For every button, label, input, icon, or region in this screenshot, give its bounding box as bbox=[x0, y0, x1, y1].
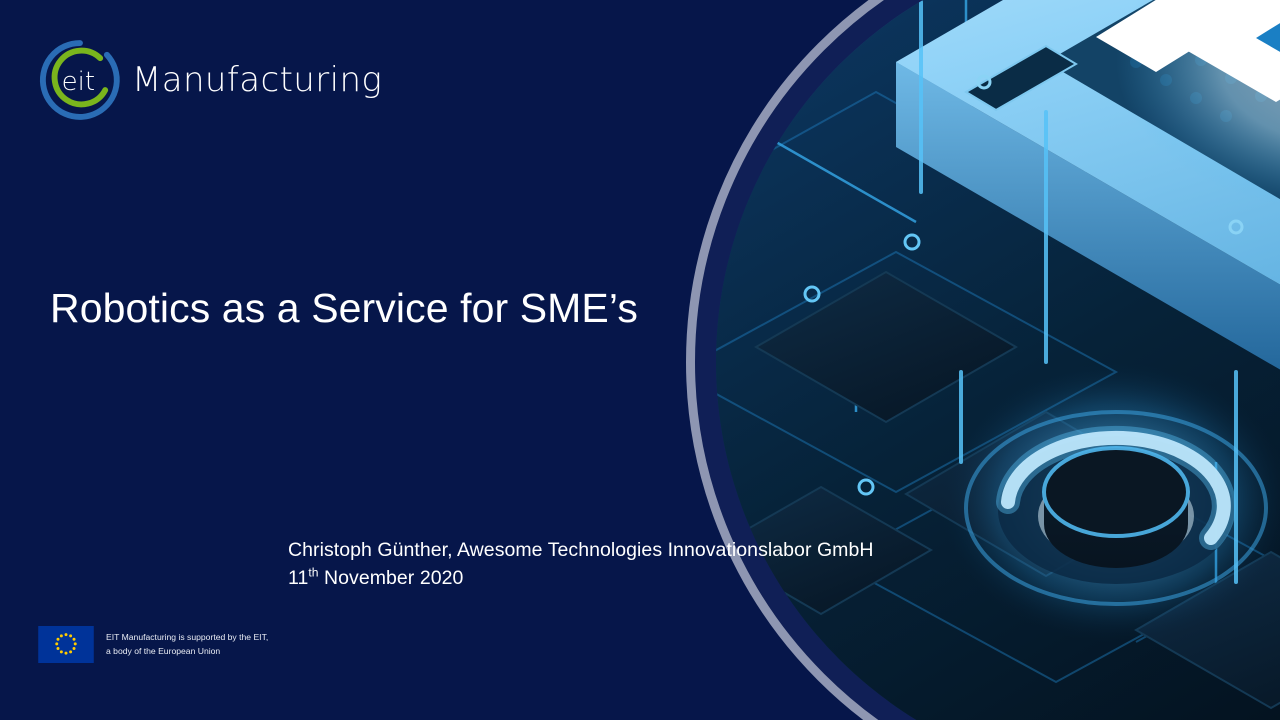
artwork-outer-ring bbox=[686, 0, 1280, 720]
date-ordinal-suffix: th bbox=[308, 566, 318, 580]
eit-circular-logo: eit bbox=[38, 38, 122, 122]
eu-funding-line-2: a body of the European Union bbox=[106, 645, 268, 658]
european-union-flag bbox=[38, 626, 94, 663]
presentation-slide: eit Manufacturing Robotics as a Service … bbox=[0, 0, 1280, 720]
author-line: Christoph Günther, Awesome Technologies … bbox=[288, 536, 874, 564]
eu-funding-line-1: EIT Manufacturing is supported by the EI… bbox=[106, 631, 268, 644]
eu-funding-footer: EIT Manufacturing is supported by the EI… bbox=[38, 626, 268, 663]
eit-manufacturing-logo: eit Manufacturing bbox=[38, 38, 382, 122]
eu-funding-text: EIT Manufacturing is supported by the EI… bbox=[106, 631, 268, 658]
slide-title: Robotics as a Service for SME’s bbox=[50, 285, 670, 332]
ai-chip-circuit-board-image bbox=[716, 0, 1280, 720]
artwork-circle bbox=[686, 0, 1280, 720]
date-rest: November 2020 bbox=[319, 567, 464, 589]
artwork-inner-backing bbox=[695, 0, 1280, 720]
date-line: 11th November 2020 bbox=[288, 564, 874, 592]
byline-block: Christoph Günther, Awesome Technologies … bbox=[288, 536, 874, 593]
circuit-illustration bbox=[716, 0, 1280, 720]
eit-mark-text: eit bbox=[62, 67, 95, 97]
logo-wordmark: Manufacturing bbox=[132, 60, 382, 100]
date-day: 11 bbox=[288, 567, 308, 589]
